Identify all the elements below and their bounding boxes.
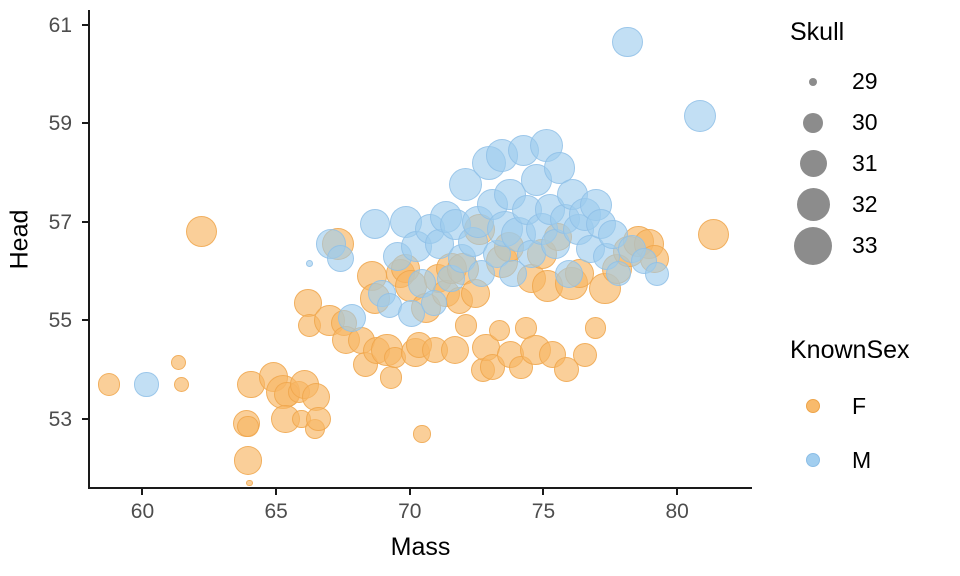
scatter-point bbox=[186, 216, 217, 247]
legend-skull-marker bbox=[790, 188, 836, 221]
legend-knownsex-marker bbox=[790, 399, 836, 413]
scatter-point bbox=[684, 100, 716, 132]
y-tick-label: 61 bbox=[12, 15, 72, 36]
y-tick-mark bbox=[82, 24, 88, 26]
legend-skull-marker bbox=[790, 78, 836, 86]
scatter-point bbox=[698, 219, 729, 250]
legend-skull-item: 32 bbox=[790, 184, 878, 225]
legend-dot-icon bbox=[800, 150, 827, 177]
legend-skull-label: 33 bbox=[852, 232, 878, 259]
x-tick-label: 80 bbox=[647, 501, 707, 522]
legend-knownsex-label: F bbox=[852, 393, 866, 420]
x-tick-label: 60 bbox=[112, 501, 172, 522]
y-axis-label: Head bbox=[6, 160, 35, 320]
y-tick-mark bbox=[82, 221, 88, 223]
scatter-point bbox=[327, 245, 354, 272]
legend-dot-icon bbox=[806, 399, 820, 413]
scatter-point bbox=[612, 27, 643, 58]
scatter-point bbox=[585, 317, 606, 338]
y-tick-mark bbox=[82, 319, 88, 321]
legend-dot-icon bbox=[809, 78, 817, 86]
x-axis-line bbox=[88, 487, 752, 489]
legend-skull-item: 29 bbox=[790, 61, 878, 102]
legend-skull-label: 29 bbox=[852, 68, 878, 95]
legend-knownsex-rows: FM bbox=[790, 379, 910, 487]
legend-skull-marker bbox=[790, 227, 836, 265]
legend-dot-icon bbox=[803, 113, 823, 133]
x-tick-mark bbox=[542, 489, 544, 495]
scatter-point bbox=[413, 425, 431, 443]
legend-skull-item: 31 bbox=[790, 143, 878, 184]
scatter-point bbox=[174, 377, 189, 392]
legend-knownsex-title: KnownSex bbox=[790, 336, 910, 365]
y-axis-line bbox=[88, 10, 90, 489]
legend-dot-icon bbox=[806, 453, 820, 467]
x-tick-mark bbox=[275, 489, 277, 495]
legend-knownsex-item: M bbox=[790, 433, 910, 487]
legend-dot-icon bbox=[797, 188, 830, 221]
scatter-point bbox=[380, 366, 403, 389]
legend-skull: Skull 2930313233 bbox=[790, 18, 878, 266]
scatter-point bbox=[555, 260, 583, 288]
legend-knownsex-label: M bbox=[852, 447, 871, 474]
legend-skull-rows: 2930313233 bbox=[790, 61, 878, 266]
y-tick-label: 59 bbox=[12, 113, 72, 134]
chart-root: 5355575961 6065707580 Mass Head Skull 29… bbox=[0, 0, 960, 576]
scatter-point bbox=[455, 314, 478, 337]
x-tick-mark bbox=[676, 489, 678, 495]
scatter-point bbox=[171, 355, 186, 370]
x-tick-mark bbox=[409, 489, 411, 495]
legend-skull-marker bbox=[790, 113, 836, 133]
x-tick-label: 65 bbox=[246, 501, 306, 522]
legend-skull-label: 31 bbox=[852, 150, 878, 177]
scatter-point bbox=[489, 320, 510, 341]
legend-knownsex-item: F bbox=[790, 379, 910, 433]
y-tick-mark bbox=[82, 418, 88, 420]
x-tick-mark bbox=[141, 489, 143, 495]
scatter-point bbox=[134, 372, 158, 396]
x-tick-label: 75 bbox=[513, 501, 573, 522]
scatter-point bbox=[645, 262, 669, 286]
y-tick-label: 53 bbox=[12, 409, 72, 430]
scatter-point bbox=[237, 416, 258, 437]
legend-skull-label: 32 bbox=[852, 191, 878, 218]
x-tick-label: 70 bbox=[380, 501, 440, 522]
legend-skull-item: 30 bbox=[790, 102, 878, 143]
legend-knownsex-marker bbox=[790, 453, 836, 467]
legend-dot-icon bbox=[794, 227, 832, 265]
scatter-point bbox=[98, 373, 121, 396]
x-axis-label: Mass bbox=[89, 533, 752, 562]
legend-skull-title: Skull bbox=[790, 18, 878, 47]
scatter-point bbox=[573, 343, 597, 367]
legend-skull-marker bbox=[790, 150, 836, 177]
legend-skull-label: 30 bbox=[852, 109, 878, 136]
legend-knownsex: KnownSex FM bbox=[790, 336, 910, 487]
y-tick-mark bbox=[82, 122, 88, 124]
legend-skull-item: 33 bbox=[790, 225, 878, 266]
